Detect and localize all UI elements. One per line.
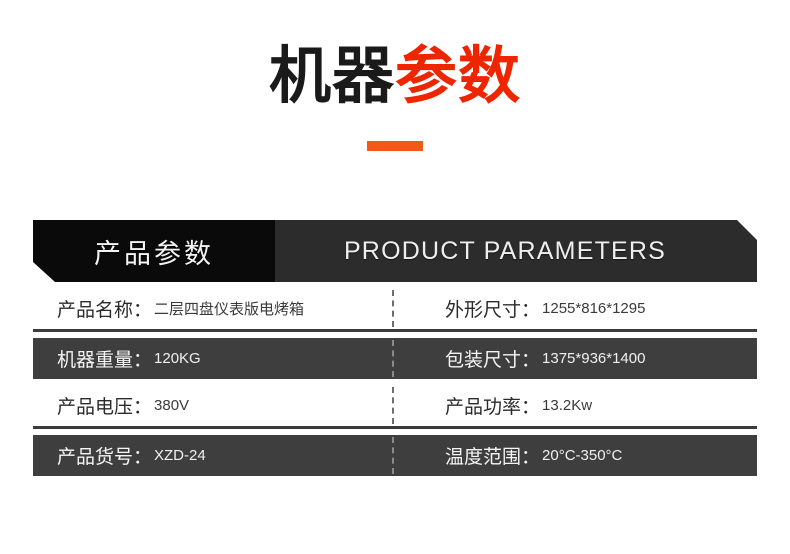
spec-key: 包装尺寸： <box>445 345 540 372</box>
table-row: 产品货号： XZD-24 温度范围： 20°C-350°C <box>33 435 757 476</box>
page-title: 机器参数 <box>0 44 790 111</box>
spec-cell-left: 机器重量： 120KG <box>33 338 395 379</box>
spec-key: 产品名称： <box>57 295 152 322</box>
row-dashed-divider <box>392 290 394 327</box>
banner-left-label: 产品参数 <box>94 232 214 271</box>
spec-cell-left: 产品货号： XZD-24 <box>33 435 395 476</box>
spec-key: 产品功率： <box>445 392 540 419</box>
spec-key: 机器重量： <box>57 345 152 372</box>
spec-cell-left: 产品名称： 二层四盘仪表版电烤箱 <box>33 288 395 329</box>
spec-value: 380V <box>154 397 189 414</box>
spec-value: 20°C-350°C <box>542 447 622 464</box>
table-row: 产品电压： 380V 产品功率： 13.2Kw <box>33 385 757 429</box>
page-title-block: 机器参数 <box>0 0 790 151</box>
spec-value: 1375*936*1400 <box>542 350 645 367</box>
page-title-red-part: 参数 <box>395 42 521 111</box>
row-dashed-divider <box>392 387 394 424</box>
table-row: 产品名称： 二层四盘仪表版电烤箱 外形尺寸： 1255*816*1295 <box>33 288 757 332</box>
table-row: 机器重量： 120KG 包装尺寸： 1375*936*1400 <box>33 338 757 379</box>
spec-key: 产品电压： <box>57 392 152 419</box>
spec-cell-left: 产品电压： 380V <box>33 385 395 426</box>
spec-cell-right: 包装尺寸： 1375*936*1400 <box>395 338 757 379</box>
spec-key: 产品货号： <box>57 442 152 469</box>
banner-right-panel: PRODUCT PARAMETERS <box>275 220 757 282</box>
spec-value: XZD-24 <box>154 447 206 464</box>
spec-cell-right: 温度范围： 20°C-350°C <box>395 435 757 476</box>
spec-value: 120KG <box>154 350 201 367</box>
spec-key: 外形尺寸： <box>445 295 540 322</box>
spec-cell-right: 外形尺寸： 1255*816*1295 <box>395 288 757 329</box>
parameters-table: 产品名称： 二层四盘仪表版电烤箱 外形尺寸： 1255*816*1295 机器重… <box>33 288 757 476</box>
banner-left-panel: 产品参数 <box>33 220 275 282</box>
spec-cell-right: 产品功率： 13.2Kw <box>395 385 757 426</box>
row-dashed-divider <box>392 437 394 474</box>
row-dashed-divider <box>392 340 394 377</box>
parameters-banner: 产品参数 PRODUCT PARAMETERS <box>33 220 757 282</box>
product-parameters-card: 产品参数 PRODUCT PARAMETERS 产品名称： 二层四盘仪表版电烤箱… <box>33 220 757 482</box>
page-title-black-part: 机器 <box>269 42 395 111</box>
spec-value: 13.2Kw <box>542 397 592 414</box>
spec-value: 二层四盘仪表版电烤箱 <box>154 298 304 319</box>
spec-value: 1255*816*1295 <box>542 300 645 317</box>
banner-right-label: PRODUCT PARAMETERS <box>344 237 666 266</box>
title-underline-bar <box>367 141 423 151</box>
spec-key: 温度范围： <box>445 442 540 469</box>
